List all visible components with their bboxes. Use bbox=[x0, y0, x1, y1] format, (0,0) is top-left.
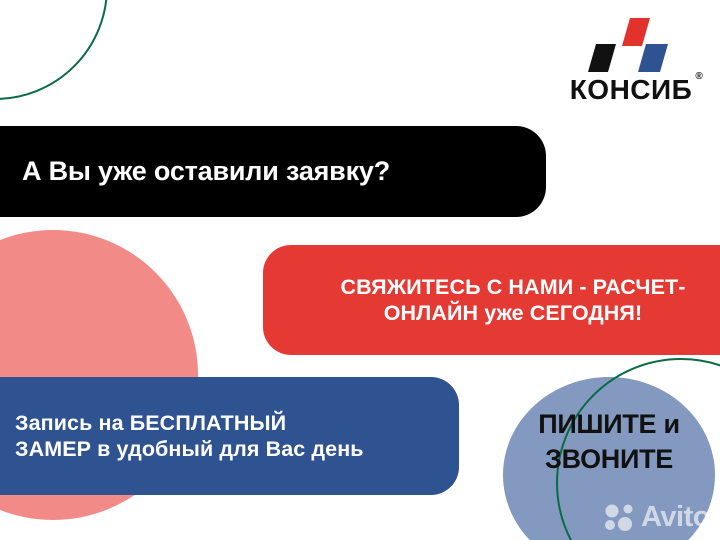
konsib-logo-mark-icon bbox=[584, 16, 678, 74]
banner-measure-line-2: ЗАМЕР в удобный для Вас день bbox=[15, 437, 364, 461]
cta-write-and-call: ПИШИТЕ и ЗВОНИТЕ bbox=[497, 407, 720, 476]
banner-contact-line-2: ОНЛАЙН уже СЕГОДНЯ! bbox=[384, 301, 643, 325]
banner-question-text: А Вы уже оставили заявку? bbox=[22, 155, 390, 188]
green-ring-top-left-decoration bbox=[0, 0, 108, 100]
banner-free-measurement-text: Запись на БЕСПЛАТНЫЙ ЗАМЕР в удобный для… bbox=[15, 410, 364, 462]
brand-logo: КОНСИБ ® bbox=[556, 16, 706, 104]
banner-measure-line-1: Запись на БЕСПЛАТНЫЙ bbox=[15, 411, 286, 435]
brand-wordmark: КОНСИБ ® bbox=[570, 76, 693, 104]
banner-contact-text: СВЯЖИТЕСЬ С НАМИ - РАСЧЕТ- ОНЛАЙН уже СЕ… bbox=[340, 274, 685, 326]
banner-question: А Вы уже оставили заявку? bbox=[0, 126, 546, 217]
cta-line-2: ЗВОНИТЕ bbox=[545, 444, 673, 474]
banner-free-measurement: Запись на БЕСПЛАТНЫЙ ЗАМЕР в удобный для… bbox=[0, 377, 459, 495]
banner-contact-line-1: СВЯЖИТЕСЬ С НАМИ - РАСЧЕТ- bbox=[340, 275, 685, 299]
promo-banner-canvas: КОНСИБ ® А Вы уже оставили заявку? СВЯЖИ… bbox=[0, 0, 720, 540]
brand-name-text: КОНСИБ bbox=[570, 74, 693, 105]
cta-line-1: ПИШИТЕ и bbox=[538, 409, 680, 439]
banner-contact: СВЯЖИТЕСЬ С НАМИ - РАСЧЕТ- ОНЛАЙН уже СЕ… bbox=[263, 245, 720, 355]
registered-trademark-icon: ® bbox=[695, 72, 703, 82]
